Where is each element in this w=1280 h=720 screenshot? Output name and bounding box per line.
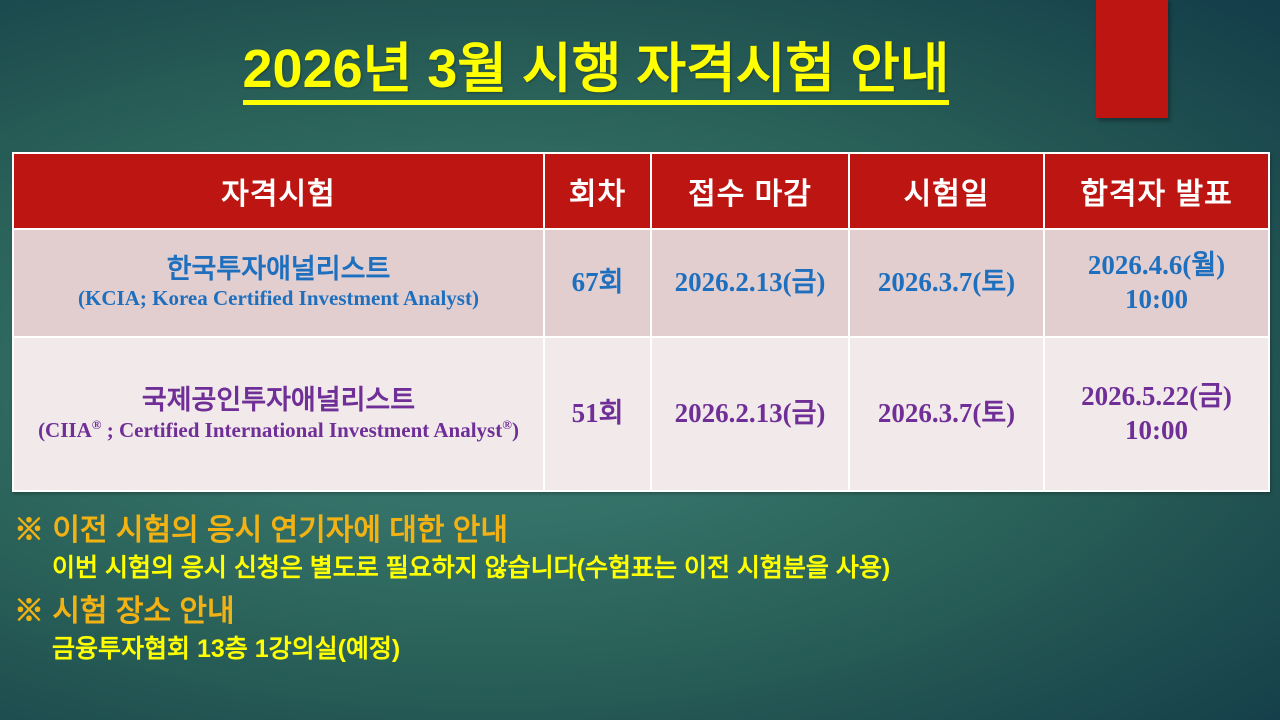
exam-name-english: (CIIA® ; Certified International Investm…	[14, 417, 543, 444]
exam-date-value: 2026.3.7(토)	[878, 398, 1015, 428]
table-header-row: 자격시험 회차 접수 마감 시험일 합격자 발표	[13, 153, 1269, 229]
result-date-value: 2026.5.22(금)	[1045, 380, 1268, 414]
note-detail-venue: 금융투자협회 13층 1강의실(예정)	[52, 633, 1269, 666]
slide-canvas: 2026년 3월 시행 자격시험 안내 자격시험 회차 접수 마감 시험일 합격…	[0, 0, 1280, 720]
cell-deadline-ciia: 2026.2.13(금)	[651, 337, 849, 491]
page-title-text: 2026년 3월 시행 자격시험 안내	[243, 41, 950, 105]
column-header-round: 회차	[544, 153, 651, 229]
notes-section: ※ 이전 시험의 응시 연기자에 대한 안내 이번 시험의 응시 신청은 별도로…	[14, 512, 1269, 674]
note-block-venue: ※ 시험 장소 안내 금융투자협회 13층 1강의실(예정)	[14, 593, 1269, 666]
result-time-value: 10:00	[1045, 283, 1268, 317]
exam-date-value: 2026.3.7(토)	[878, 267, 1015, 297]
column-header-deadline: 접수 마감	[651, 153, 849, 229]
cell-exam-date-kcia: 2026.3.7(토)	[849, 229, 1044, 337]
note-heading-venue: ※ 시험 장소 안내	[14, 593, 1269, 631]
exam-name-korean: 국제공인투자애널리스트	[14, 385, 543, 417]
exam-schedule-table: 자격시험 회차 접수 마감 시험일 합격자 발표 한국투자애널리스트 (KCIA…	[12, 152, 1270, 492]
note-block-postponed: ※ 이전 시험의 응시 연기자에 대한 안내 이번 시험의 응시 신청은 별도로…	[14, 512, 1269, 585]
result-time-value: 10:00	[1045, 414, 1268, 448]
exam-name-english-part3: )	[512, 418, 519, 442]
column-header-exam-date: 시험일	[849, 153, 1044, 229]
exam-name-korean: 한국투자애널리스트	[14, 254, 543, 286]
column-header-exam: 자격시험	[13, 153, 544, 229]
cell-deadline-kcia: 2026.2.13(금)	[651, 229, 849, 337]
cell-exam-name-kcia: 한국투자애널리스트 (KCIA; Korea Certified Investm…	[13, 229, 544, 337]
table-row: 한국투자애널리스트 (KCIA; Korea Certified Investm…	[13, 229, 1269, 337]
registered-trademark-symbol: ®	[92, 417, 102, 432]
exam-name-english: (KCIA; Korea Certified Investment Analys…	[14, 286, 543, 312]
cell-exam-name-ciia: 국제공인투자애널리스트 (CIIA® ; Certified Internati…	[13, 337, 544, 491]
cell-round-kcia: 67회	[544, 229, 651, 337]
note-detail-postponed: 이번 시험의 응시 신청은 별도로 필요하지 않습니다(수험표는 이전 시험분을…	[52, 552, 1269, 585]
page-title: 2026년 3월 시행 자격시험 안내	[0, 38, 1192, 105]
exam-name-english-part1: (CIIA	[38, 418, 92, 442]
column-header-result: 합격자 발표	[1044, 153, 1269, 229]
exam-name-english-part2: ; Certified International Investment Ana…	[101, 418, 502, 442]
cell-result-ciia: 2026.5.22(금) 10:00	[1044, 337, 1269, 491]
note-heading-postponed: ※ 이전 시험의 응시 연기자에 대한 안내	[14, 512, 1269, 550]
cell-result-kcia: 2026.4.6(월) 10:00	[1044, 229, 1269, 337]
table-row: 국제공인투자애널리스트 (CIIA® ; Certified Internati…	[13, 337, 1269, 491]
result-date-value: 2026.4.6(월)	[1045, 249, 1268, 283]
cell-round-ciia: 51회	[544, 337, 651, 491]
cell-exam-date-ciia: 2026.3.7(토)	[849, 337, 1044, 491]
registered-trademark-symbol: ®	[502, 417, 512, 432]
